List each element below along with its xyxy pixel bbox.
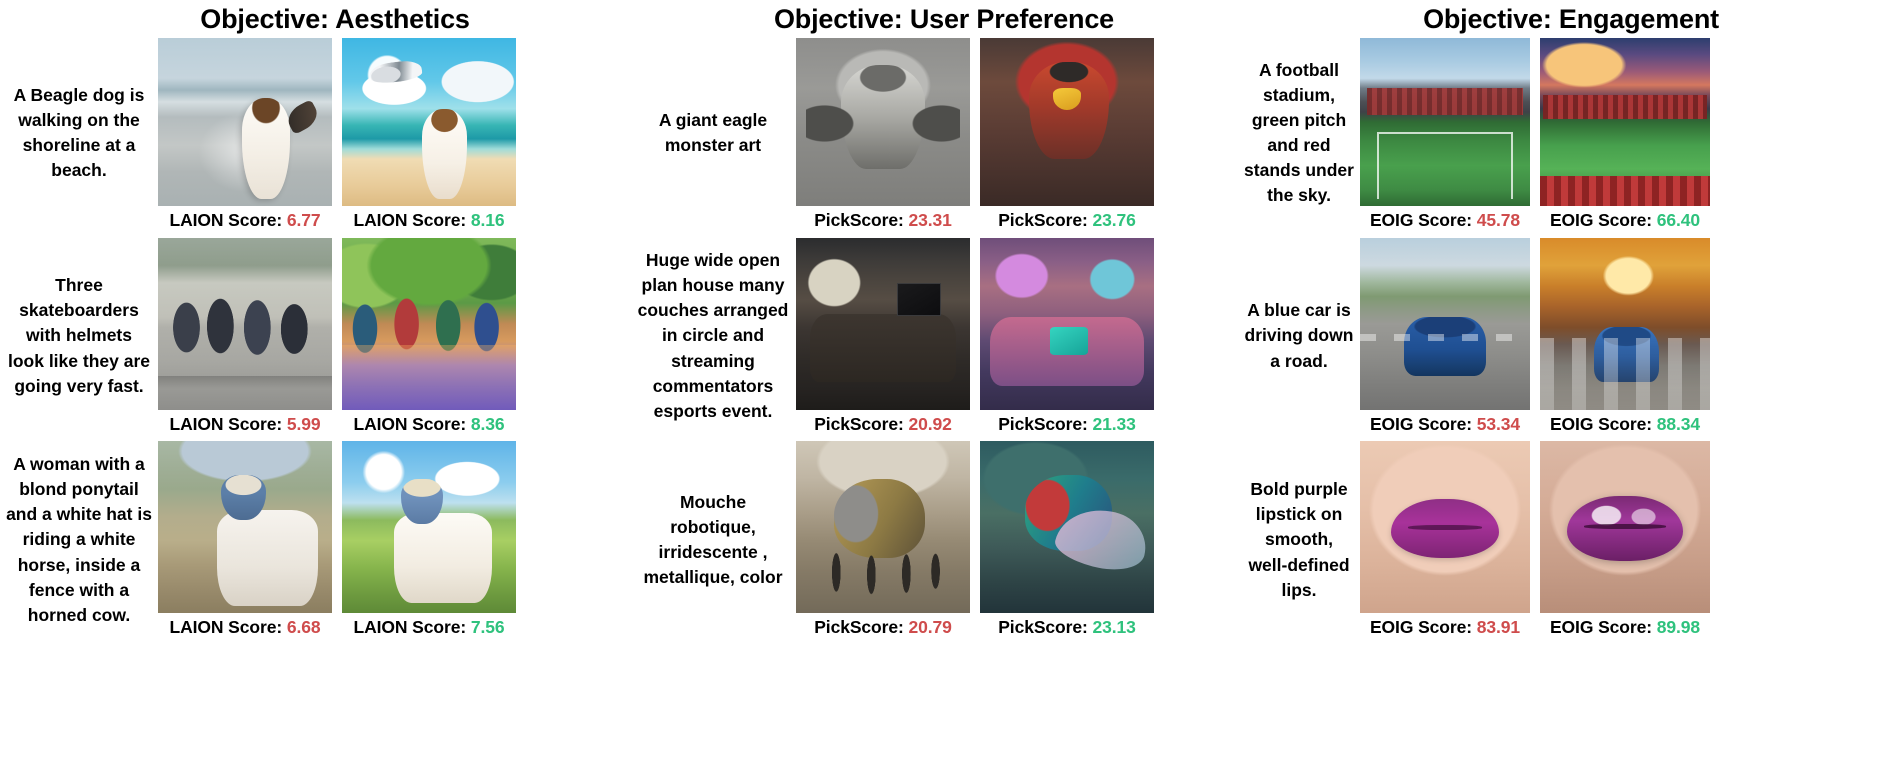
score-label: PickScore: bbox=[998, 414, 1087, 434]
image-cell-low[interactable]: PickScore: 23.31 bbox=[796, 38, 970, 231]
image-cell-high[interactable]: LAION Score: 8.16 bbox=[342, 38, 516, 231]
score-value: 5.99 bbox=[287, 414, 321, 434]
score-eoig-high: EOIG Score: 89.98 bbox=[1550, 617, 1700, 638]
score-value: 89.98 bbox=[1657, 617, 1700, 637]
score-label: EOIG Score: bbox=[1370, 617, 1472, 637]
score-label: PickScore: bbox=[814, 210, 903, 230]
image-cell-low[interactable]: LAION Score: 6.77 bbox=[158, 38, 332, 231]
column-engagement: Objective: Engagement A football stadium… bbox=[1238, 0, 1894, 781]
score-eoig-low: EOIG Score: 45.78 bbox=[1370, 210, 1520, 231]
thumbnail-eagle-monster-greyscale[interactable] bbox=[796, 38, 970, 206]
score-label: PickScore: bbox=[998, 210, 1087, 230]
thumbnail-beagle-illustration-on-beach[interactable] bbox=[342, 38, 516, 206]
score-value: 88.34 bbox=[1657, 414, 1700, 434]
score-label: PickScore: bbox=[814, 617, 903, 637]
score-label: LAION Score: bbox=[353, 210, 466, 230]
image-cell-low[interactable]: EOIG Score: 83.91 bbox=[1360, 441, 1530, 638]
thumbnail-blue-car-on-road[interactable] bbox=[1360, 238, 1530, 410]
thumbnail-robotic-fly-iridescent[interactable] bbox=[980, 441, 1154, 613]
score-value: 20.79 bbox=[908, 617, 951, 637]
score-label: EOIG Score: bbox=[1550, 414, 1652, 434]
image-pair: LAION Score: 6.68 LAION Score: 7.56 bbox=[158, 441, 516, 638]
score-label: EOIG Score: bbox=[1370, 414, 1472, 434]
column-body-aesthetics: A Beagle dog is walking on the shoreline… bbox=[0, 38, 630, 646]
score-label: EOIG Score: bbox=[1550, 210, 1652, 230]
image-pair: EOIG Score: 53.34 EOIG Score: 88.34 bbox=[1360, 238, 1710, 435]
image-cell-high[interactable]: LAION Score: 8.36 bbox=[342, 238, 516, 435]
prompt-text: A Beagle dog is walking on the shoreline… bbox=[0, 38, 158, 228]
column-body-engagement: A football stadium, green pitch and red … bbox=[1238, 38, 1894, 646]
score-label: EOIG Score: bbox=[1370, 210, 1472, 230]
prompt-text: A woman with a blond ponytail and a whit… bbox=[0, 441, 158, 639]
score-label: LAION Score: bbox=[169, 617, 282, 637]
image-pair: LAION Score: 5.99 LAION Score: 8.36 bbox=[158, 238, 516, 435]
table-row: A blue car is driving down a road. EOIG … bbox=[1238, 238, 1894, 441]
table-row: A Beagle dog is walking on the shoreline… bbox=[0, 38, 630, 238]
prompt-text: A giant eagle monster art bbox=[630, 38, 796, 228]
image-cell-high[interactable]: EOIG Score: 66.40 bbox=[1540, 38, 1710, 231]
score-laion-low: LAION Score: 6.68 bbox=[169, 617, 320, 638]
column-user-preference: Objective: User Preference A giant eagle… bbox=[630, 0, 1238, 781]
score-eoig-high: EOIG Score: 88.34 bbox=[1550, 414, 1700, 435]
score-value: 23.76 bbox=[1092, 210, 1135, 230]
thumbnail-skateboarders-painting[interactable] bbox=[342, 238, 516, 410]
image-cell-high[interactable]: EOIG Score: 89.98 bbox=[1540, 441, 1710, 638]
score-label: LAION Score: bbox=[169, 414, 282, 434]
image-pair: PickScore: 23.31 PickScore: 23.76 bbox=[796, 38, 1154, 231]
image-pair: EOIG Score: 45.78 EOIG Score: 66.40 bbox=[1360, 38, 1710, 231]
table-row: Huge wide open plan house many couches a… bbox=[630, 238, 1238, 441]
score-pickscore-high: PickScore: 21.33 bbox=[998, 414, 1136, 435]
image-pair: PickScore: 20.92 PickScore: 21.33 bbox=[796, 238, 1154, 435]
score-value: 6.68 bbox=[287, 617, 321, 637]
column-header-aesthetics: Objective: Aesthetics bbox=[0, 0, 630, 38]
thumbnail-open-plan-living-room-photo[interactable] bbox=[796, 238, 970, 410]
score-eoig-low: EOIG Score: 53.34 bbox=[1370, 414, 1520, 435]
prompt-text: Bold purple lipstick on smooth, well-def… bbox=[1238, 441, 1360, 639]
score-pickscore-low: PickScore: 23.31 bbox=[814, 210, 952, 231]
score-value: 7.56 bbox=[471, 617, 505, 637]
score-label: LAION Score: bbox=[353, 617, 466, 637]
column-header-engagement: Objective: Engagement bbox=[1238, 0, 1894, 38]
thumbnail-eagle-monster-color[interactable] bbox=[980, 38, 1154, 206]
score-eoig-high: EOIG Score: 66.40 bbox=[1550, 210, 1700, 231]
table-row: A woman with a blond ponytail and a whit… bbox=[0, 441, 630, 646]
thumbnail-robotic-fly-metallic[interactable] bbox=[796, 441, 970, 613]
score-value: 66.40 bbox=[1657, 210, 1700, 230]
score-value: 45.78 bbox=[1477, 210, 1520, 230]
image-pair: LAION Score: 6.77 LAION Score: 8.16 bbox=[158, 38, 516, 231]
score-value: 83.91 bbox=[1477, 617, 1520, 637]
image-cell-low[interactable]: EOIG Score: 53.34 bbox=[1360, 238, 1530, 435]
prompt-text: Mouche robotique, irridescente , metalli… bbox=[630, 441, 796, 639]
thumbnail-woman-riding-horse-photo[interactable] bbox=[158, 441, 332, 613]
score-pickscore-high: PickScore: 23.76 bbox=[998, 210, 1136, 231]
score-eoig-low: EOIG Score: 83.91 bbox=[1370, 617, 1520, 638]
score-value: 8.36 bbox=[471, 414, 505, 434]
column-aesthetics: Objective: Aesthetics A Beagle dog is wa… bbox=[0, 0, 630, 781]
image-cell-high[interactable]: LAION Score: 7.56 bbox=[342, 441, 516, 638]
thumbnail-football-stadium-sunset[interactable] bbox=[1540, 38, 1710, 206]
image-cell-low[interactable]: PickScore: 20.79 bbox=[796, 441, 970, 638]
image-cell-low[interactable]: LAION Score: 6.68 bbox=[158, 441, 332, 638]
image-cell-low[interactable]: LAION Score: 5.99 bbox=[158, 238, 332, 435]
thumbnail-purple-lipstick-glossy[interactable] bbox=[1540, 441, 1710, 613]
image-cell-high[interactable]: PickScore: 23.76 bbox=[980, 38, 1154, 231]
score-value: 21.33 bbox=[1092, 414, 1135, 434]
thumbnail-open-plan-living-room-neon[interactable] bbox=[980, 238, 1154, 410]
image-cell-low[interactable]: EOIG Score: 45.78 bbox=[1360, 38, 1530, 231]
column-header-user-preference: Objective: User Preference bbox=[630, 0, 1238, 38]
image-cell-low[interactable]: PickScore: 20.92 bbox=[796, 238, 970, 435]
score-value: 23.31 bbox=[908, 210, 951, 230]
table-row: Bold purple lipstick on smooth, well-def… bbox=[1238, 441, 1894, 646]
score-value: 53.34 bbox=[1477, 414, 1520, 434]
score-value: 20.92 bbox=[908, 414, 951, 434]
image-pair: EOIG Score: 83.91 EOIG Score: 89.98 bbox=[1360, 441, 1710, 638]
image-cell-high[interactable]: PickScore: 23.13 bbox=[980, 441, 1154, 638]
thumbnail-blue-car-autumn-road[interactable] bbox=[1540, 238, 1710, 410]
prompt-text: A blue car is driving down a road. bbox=[1238, 238, 1360, 434]
thumbnail-skateboarders-photo[interactable] bbox=[158, 238, 332, 410]
table-row: Mouche robotique, irridescente , metalli… bbox=[630, 441, 1238, 646]
score-label: PickScore: bbox=[814, 414, 903, 434]
image-cell-high[interactable]: PickScore: 21.33 bbox=[980, 238, 1154, 435]
score-laion-high: LAION Score: 8.16 bbox=[353, 210, 504, 231]
thumbnail-football-stadium-daylight[interactable] bbox=[1360, 38, 1530, 206]
thumbnail-purple-lipstick-matte[interactable] bbox=[1360, 441, 1530, 613]
score-pickscore-low: PickScore: 20.79 bbox=[814, 617, 952, 638]
score-label: LAION Score: bbox=[169, 210, 282, 230]
objective-comparison-figure: Objective: Aesthetics A Beagle dog is wa… bbox=[0, 0, 1894, 781]
image-cell-high[interactable]: EOIG Score: 88.34 bbox=[1540, 238, 1710, 435]
score-value: 23.13 bbox=[1092, 617, 1135, 637]
score-pickscore-low: PickScore: 20.92 bbox=[814, 414, 952, 435]
score-label: LAION Score: bbox=[353, 414, 466, 434]
table-row: Three skateboarders with helmets look li… bbox=[0, 238, 630, 441]
score-value: 8.16 bbox=[471, 210, 505, 230]
score-label: PickScore: bbox=[998, 617, 1087, 637]
score-laion-high: LAION Score: 8.36 bbox=[353, 414, 504, 435]
table-row: A giant eagle monster art PickScore: 23.… bbox=[630, 38, 1238, 238]
score-laion-low: LAION Score: 5.99 bbox=[169, 414, 320, 435]
thumbnail-beagle-photo-on-beach[interactable] bbox=[158, 38, 332, 206]
image-pair: PickScore: 20.79 PickScore: 23.13 bbox=[796, 441, 1154, 638]
score-label: EOIG Score: bbox=[1550, 617, 1652, 637]
score-laion-low: LAION Score: 6.77 bbox=[169, 210, 320, 231]
prompt-text: Three skateboarders with helmets look li… bbox=[0, 238, 158, 434]
column-body-user-preference: A giant eagle monster art PickScore: 23.… bbox=[630, 38, 1238, 646]
prompt-text: Huge wide open plan house many couches a… bbox=[630, 238, 796, 434]
thumbnail-woman-riding-horse-painting[interactable] bbox=[342, 441, 516, 613]
score-laion-high: LAION Score: 7.56 bbox=[353, 617, 504, 638]
score-pickscore-high: PickScore: 23.13 bbox=[998, 617, 1136, 638]
prompt-text: A football stadium, green pitch and red … bbox=[1238, 38, 1360, 228]
table-row: A football stadium, green pitch and red … bbox=[1238, 38, 1894, 238]
score-value: 6.77 bbox=[287, 210, 321, 230]
